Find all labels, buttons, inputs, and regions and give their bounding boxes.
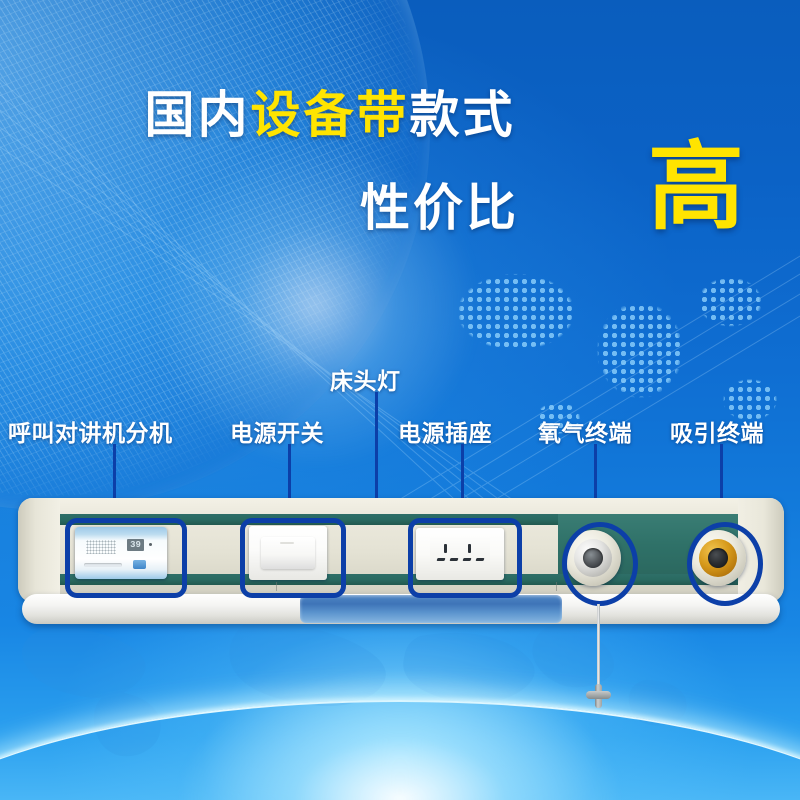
highlight-box-power-switch: [240, 518, 346, 598]
callout-label-intercom: 呼叫对讲机分机: [8, 414, 173, 448]
highlight-ellipse-suction: [687, 522, 763, 606]
headline-line1-part2: 款式: [410, 87, 516, 143]
unit-seam-right: [556, 582, 557, 591]
headline-emphasis-word: 高: [648, 140, 744, 236]
headline-line1-part1: 国内: [145, 87, 251, 143]
connector-horizontal: [586, 691, 611, 699]
promo-banner-stage: 国内设备带款式 性价比 高 呼叫对讲机分机 电源开关 床头灯 电源插座 氧气终端…: [0, 0, 800, 800]
bottom-glow: [180, 672, 620, 800]
callout-label-socket: 电源插座: [398, 414, 492, 448]
callout-label-power-switch: 电源开关: [230, 414, 324, 448]
highlight-box-socket: [408, 518, 522, 598]
callout-label-bed-lamp: 床头灯: [330, 362, 401, 396]
headline-line-1: 国内设备带款式: [0, 90, 660, 140]
headline-line-2: 性价比: [360, 168, 519, 240]
tube-cross-connector-icon: [586, 684, 611, 708]
hanging-gas-tube: [597, 604, 600, 690]
unit-end-cap-left: [18, 498, 60, 602]
highlight-ellipse-oxygen: [562, 522, 638, 606]
bed-reading-lamp[interactable]: [300, 595, 562, 623]
callout-label-suction: 吸引终端: [670, 414, 764, 448]
highlight-box-intercom: [65, 518, 187, 598]
headline-line1-accent: 设备带: [251, 87, 410, 143]
callout-label-oxygen: 氧气终端: [538, 414, 632, 448]
